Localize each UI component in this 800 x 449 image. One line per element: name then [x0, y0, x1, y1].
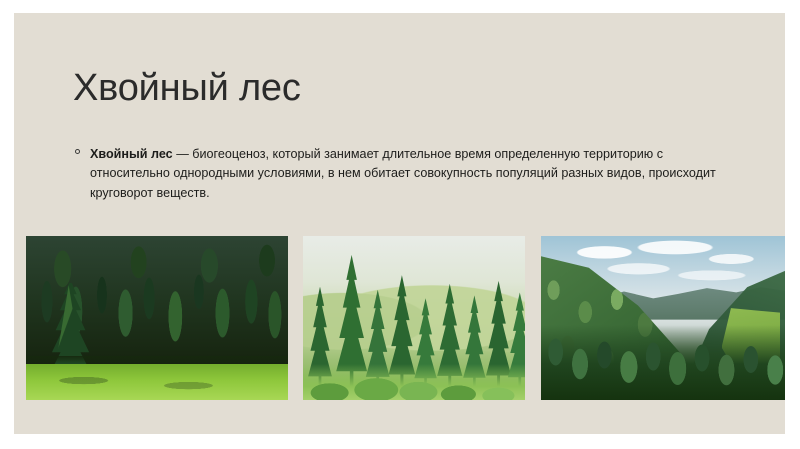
- image-spruce-trees-with-hazy-hills: [303, 236, 525, 400]
- image-aerial-forested-valley: [541, 236, 785, 400]
- photo3-foreground-canopy: [541, 325, 785, 400]
- presentation-canvas: Хвойный лес Хвойный лес — биогеоценоз, к…: [0, 0, 800, 449]
- photo1-meadow: [26, 364, 288, 400]
- slide: Хвойный лес Хвойный лес — биогеоценоз, к…: [14, 13, 785, 434]
- slide-title: Хвойный лес: [73, 68, 723, 109]
- bullet-item: Хвойный лес — биогеоценоз, который заним…: [73, 145, 721, 203]
- bullet-text: — биогеоценоз, который занимает длительн…: [90, 147, 716, 200]
- image-coniferous-forest-slope-with-meadow: [26, 236, 288, 400]
- photo2-undergrowth: [303, 364, 525, 400]
- bullet-circle-icon: [75, 149, 80, 154]
- photo1-treeline-shadow: [26, 356, 288, 364]
- bullet-lead-term: Хвойный лес: [90, 147, 173, 161]
- slide-body: Хвойный лес — биогеоценоз, который заним…: [73, 145, 721, 203]
